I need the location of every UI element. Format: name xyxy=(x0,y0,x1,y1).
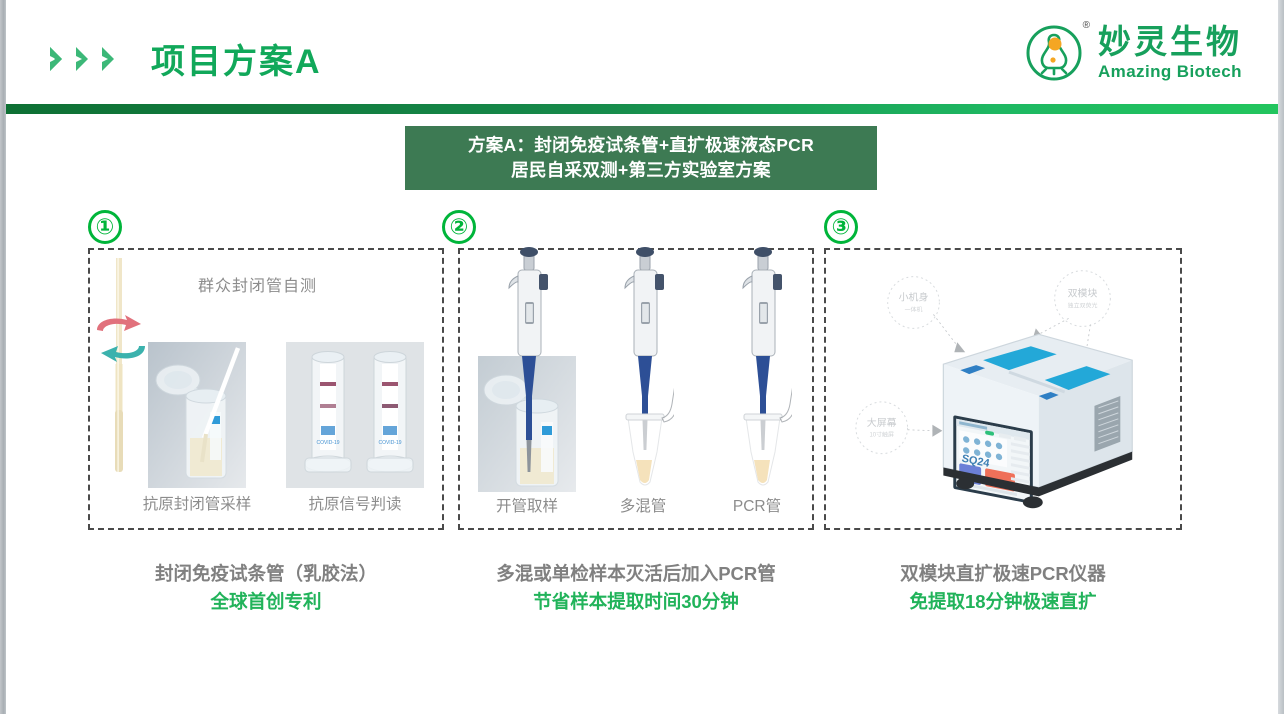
step-1-foot-line-2: 全球首创专利 xyxy=(88,588,444,616)
step-3-foot-line-1: 双模块直扩极速PCR仪器 xyxy=(824,560,1182,588)
step-2-caption-1: 开管取样 xyxy=(468,494,586,516)
step-3-footer: 双模块直扩极速PCR仪器 免提取18分钟极速直扩 xyxy=(824,560,1182,616)
svg-text:一体机: 一体机 xyxy=(905,305,923,313)
svg-text:COVID-19: COVID-19 xyxy=(316,440,339,446)
antigen-sealed-tube-sampling-photo xyxy=(148,342,246,488)
step-1-footer: 封闭免疫试条管（乳胶法） 全球首创专利 xyxy=(88,560,444,616)
step-2-caption-2: 多混管 xyxy=(588,494,698,516)
svg-text:10寸触屏: 10寸触屏 xyxy=(869,431,894,439)
step-1-foot-line-1: 封闭免疫试条管（乳胶法） xyxy=(88,560,444,588)
step-1-caption-1: 抗原封闭管采样 xyxy=(126,492,268,514)
logo-company-name-en: Amazing Biotech xyxy=(1098,63,1242,80)
slide-canvas: 项目方案A ® 妙灵生物 Amazing Biotech 方案A：封闭免疫试条管… xyxy=(0,0,1284,714)
company-logo: ® 妙灵生物 Amazing Biotech xyxy=(1024,16,1242,88)
step-2-footer: 多混或单检样本灭活后加入PCR管 节省样本提取时间30分钟 xyxy=(458,560,814,616)
swab-stick-icon xyxy=(112,258,126,480)
antigen-signal-readout-photo: COVID-19 COVID-19 xyxy=(286,342,424,488)
page-title: 项目方案A xyxy=(151,34,322,83)
svg-text:大屏幕: 大屏幕 xyxy=(867,416,897,429)
logo-company-name-cn: 妙灵生物 xyxy=(1098,25,1242,58)
steps-row: ① 群众封闭管自测 xyxy=(0,210,1284,550)
step-3-panel: 小机身 一体机 双模块 独立双荧光 大屏幕 xyxy=(824,248,1182,530)
pipette-icon xyxy=(614,246,674,496)
banner-line-1: 方案A：封闭免疫试条管+直扩极速液态PCR xyxy=(468,133,814,158)
step-3-foot-line-2: 免提取18分钟极速直扩 xyxy=(824,588,1182,616)
header-divider-bar xyxy=(6,104,1278,114)
pipette-icon xyxy=(498,246,558,496)
svg-text:小机身: 小机身 xyxy=(899,291,929,304)
step-2-foot-line-1: 多混或单检样本灭活后加入PCR管 xyxy=(458,560,814,588)
pipette-icon xyxy=(732,246,792,496)
rotating-arrows-icon xyxy=(93,312,149,366)
step-1-caption-2: 抗原信号判读 xyxy=(276,492,434,514)
flask-circle-logo-icon: ® xyxy=(1024,20,1088,84)
banner-line-2: 居民自采双测+第三方实验室方案 xyxy=(511,158,771,183)
step-2-badge: ② xyxy=(442,210,476,244)
step-1-panel-title: 群众封闭管自测 xyxy=(198,272,317,296)
step-1-panel: 群众封闭管自测 xyxy=(88,248,444,530)
svg-text:双模块: 双模块 xyxy=(1068,288,1098,300)
registered-trademark-mark: ® xyxy=(1083,20,1090,31)
slide-header: 项目方案A ® 妙灵生物 Amazing Biotech xyxy=(6,0,1278,104)
step-1-badge: ① xyxy=(88,210,122,244)
dual-module-pcr-instrument-photo: 小机身 一体机 双模块 独立双荧光 大屏幕 xyxy=(834,256,1172,522)
svg-text:COVID-19: COVID-19 xyxy=(378,440,401,446)
step-2-foot-line-2: 节省样本提取时间30分钟 xyxy=(458,588,814,616)
step-2-caption-3: PCR管 xyxy=(702,494,812,516)
svg-text:独立双荧光: 独立双荧光 xyxy=(1068,301,1098,309)
scheme-banner: 方案A：封闭免疫试条管+直扩极速液态PCR 居民自采双测+第三方实验室方案 xyxy=(405,126,877,190)
step-2-panel: 开管取样 多混管 PCR管 xyxy=(458,248,814,530)
triple-chevron-right-icon xyxy=(48,44,124,74)
step-3-badge: ③ xyxy=(824,210,858,244)
